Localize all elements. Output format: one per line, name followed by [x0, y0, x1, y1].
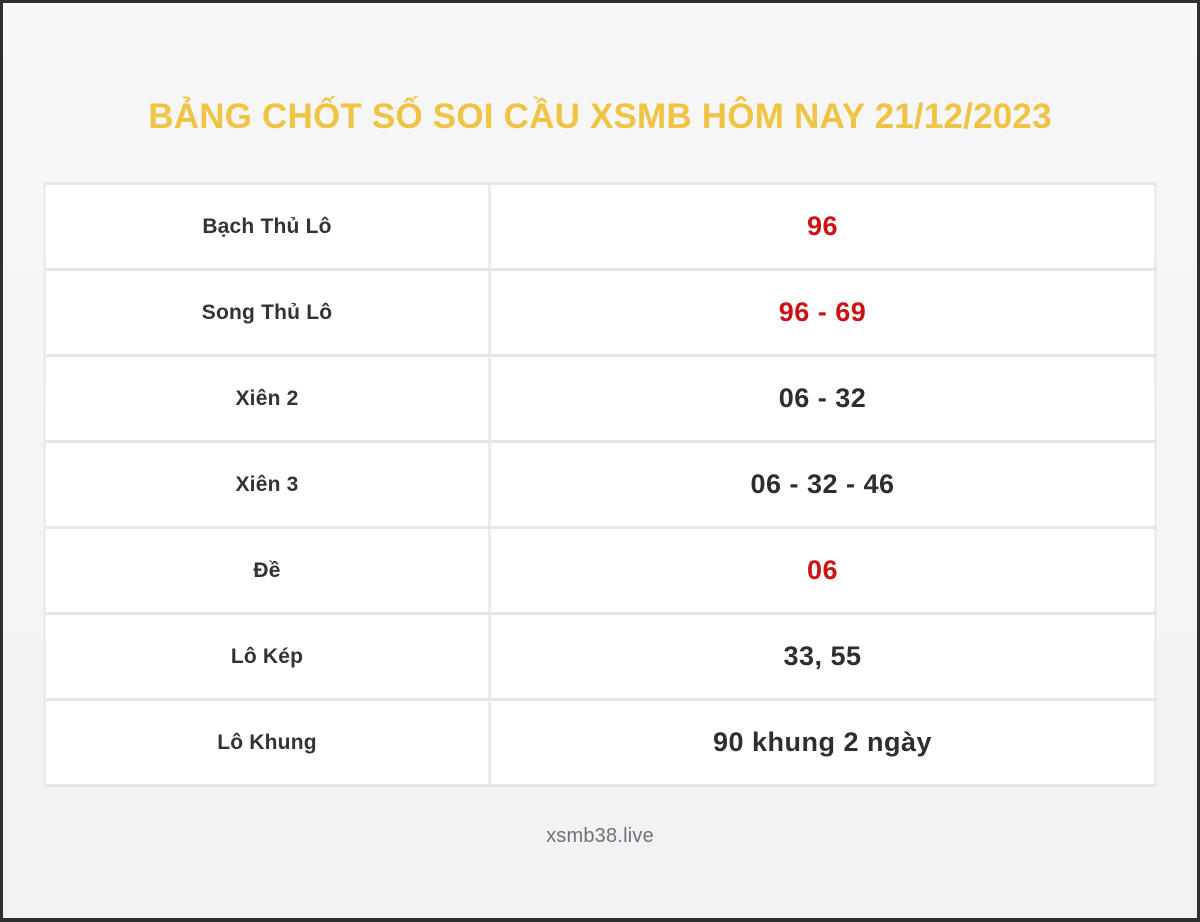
- table-row: Đề 06: [46, 529, 1157, 615]
- row-value: 06: [491, 529, 1157, 612]
- table-row: Song Thủ Lô 96 - 69: [46, 271, 1157, 357]
- table-row: Xiên 2 06 - 32: [46, 357, 1157, 443]
- row-value: 90 khung 2 ngày: [491, 701, 1157, 784]
- page-title: BẢNG CHỐT SỐ SOI CẦU XSMB HÔM NAY 21/12/…: [3, 95, 1197, 139]
- row-value: 96 - 69: [491, 271, 1157, 354]
- row-label: Bạch Thủ Lô: [46, 185, 491, 268]
- row-label: Đề: [46, 529, 491, 612]
- row-value: 33, 55: [491, 615, 1157, 698]
- row-value: 06 - 32: [491, 357, 1157, 440]
- table-row: Lô Kép 33, 55: [46, 615, 1157, 701]
- site-watermark: xsmb38.live: [3, 825, 1197, 848]
- table-row: Xiên 3 06 - 32 - 46: [46, 443, 1157, 529]
- row-label: Lô Kép: [46, 615, 491, 698]
- row-value: 06 - 32 - 46: [491, 443, 1157, 526]
- table-row: Lô Khung 90 khung 2 ngày: [46, 701, 1157, 787]
- row-label: Xiên 2: [46, 357, 491, 440]
- page-frame: BẢNG CHỐT SỐ SOI CẦU XSMB HÔM NAY 21/12/…: [3, 3, 1197, 918]
- prediction-table: Bạch Thủ Lô 96 Song Thủ Lô 96 - 69 Xiên …: [43, 182, 1157, 787]
- row-value: 96: [491, 185, 1157, 268]
- row-label: Song Thủ Lô: [46, 271, 491, 354]
- row-label: Lô Khung: [46, 701, 491, 784]
- row-label: Xiên 3: [46, 443, 491, 526]
- table-row: Bạch Thủ Lô 96: [46, 185, 1157, 271]
